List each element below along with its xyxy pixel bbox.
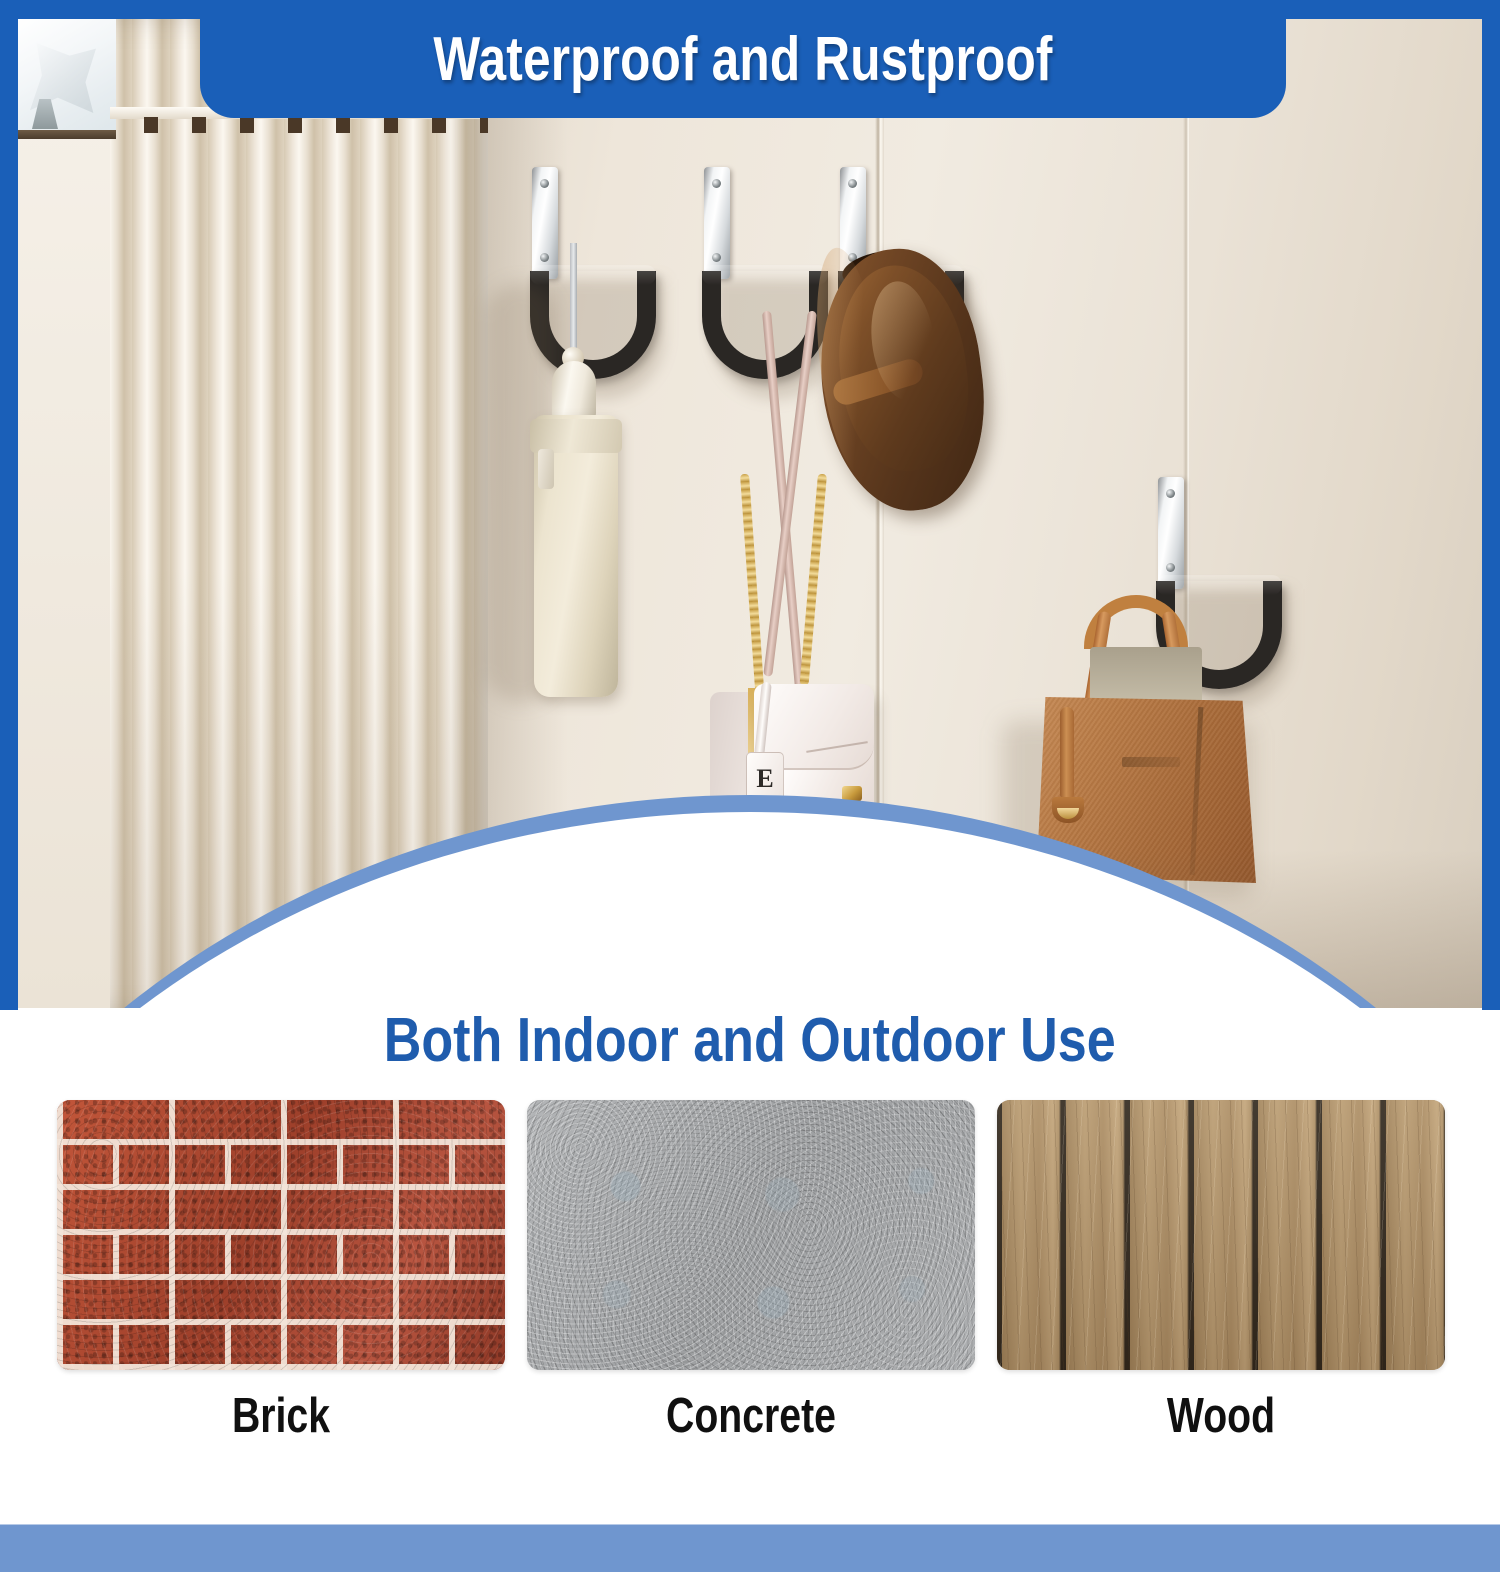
hook-2-mounting-plate (704, 167, 730, 279)
concrete-mottling (527, 1100, 975, 1370)
umbrella-band (530, 419, 622, 453)
headline-text: Waterproof and Rustproof (433, 24, 1052, 95)
swatch-item-wood: Wood (997, 1100, 1445, 1444)
subheading-text: Both Indoor and Outdoor Use (384, 1005, 1116, 1076)
border-left (0, 0, 18, 1010)
brick-swatch-image (57, 1100, 505, 1370)
screw-icon (848, 179, 857, 188)
concrete-swatch-image (527, 1100, 975, 1370)
product-infographic: E (0, 0, 1500, 1445)
brick-texture (57, 1100, 505, 1370)
concrete-label: Concrete (572, 1388, 930, 1444)
border-right (1482, 0, 1500, 1010)
brick-grain (57, 1100, 505, 1370)
wood-label: Wood (1042, 1388, 1400, 1444)
tote-logo (1122, 757, 1180, 767)
screw-icon (712, 179, 721, 188)
subheading: Both Indoor and Outdoor Use (0, 1000, 1500, 1080)
concrete-texture (527, 1100, 975, 1370)
swatch-item-brick: Brick (57, 1100, 505, 1444)
umbrella-tag (538, 449, 554, 489)
swatch-item-concrete: Concrete (527, 1100, 975, 1444)
surface-swatch-row: Brick Concrete Wood (0, 1100, 1500, 1445)
hanging-fedora-hat (818, 241, 988, 516)
screw-icon (540, 179, 549, 188)
tote-side-tab (1060, 707, 1074, 801)
window (18, 19, 116, 139)
screw-icon (712, 253, 721, 262)
hanging-umbrella (516, 243, 636, 713)
brick-label: Brick (102, 1388, 460, 1444)
screw-icon (1166, 563, 1175, 572)
blind-headrail-slots (110, 117, 488, 133)
hook-4-mounting-plate (1158, 477, 1184, 589)
tote-lock (1052, 797, 1084, 823)
wood-swatch-image (997, 1100, 1445, 1370)
umbrella-strap (570, 243, 577, 353)
wood-grain (997, 1100, 1445, 1370)
wood-texture (997, 1100, 1445, 1370)
umbrella-handle (552, 361, 596, 423)
left-plain-wall (18, 19, 110, 1010)
headline-banner: Waterproof and Rustproof (200, 0, 1286, 118)
screw-icon (1166, 489, 1175, 498)
window-sill (18, 130, 116, 139)
